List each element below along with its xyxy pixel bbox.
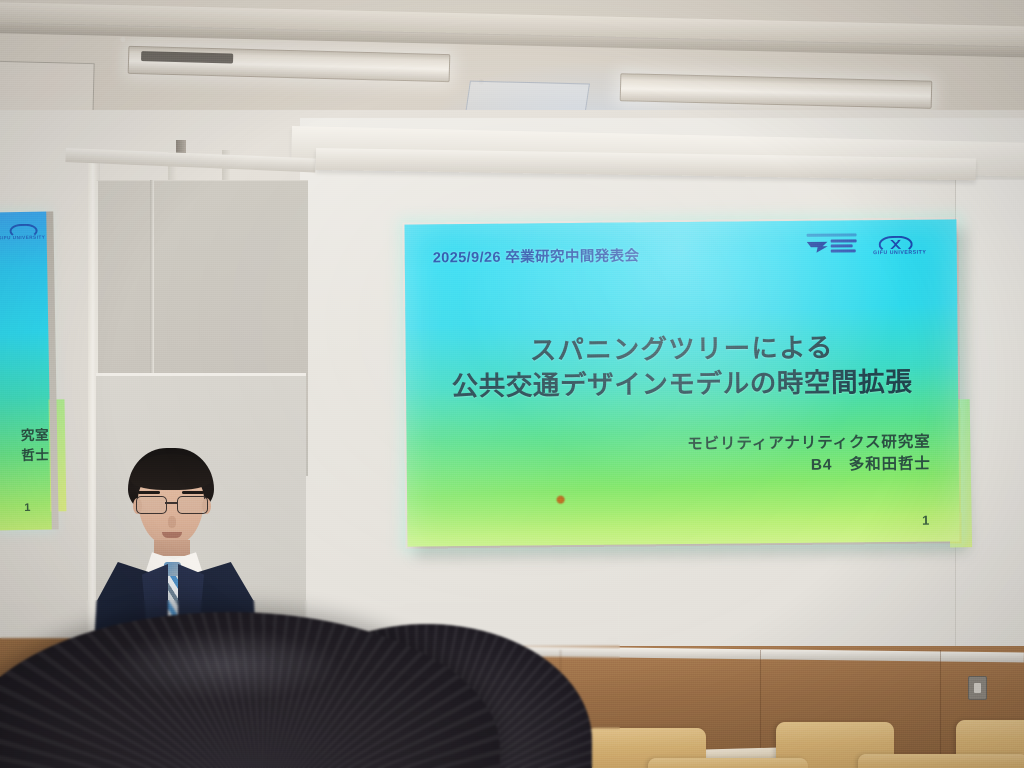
chair-seat bbox=[858, 754, 1024, 768]
slide-logo-group: GIFU UNIVERSITY bbox=[807, 236, 931, 259]
whiteboard-seam bbox=[150, 180, 154, 375]
slide-title-line-1: スパニングツリーによる bbox=[406, 329, 958, 370]
dado-seam bbox=[940, 650, 941, 768]
presenter-eyebrow-left bbox=[138, 491, 160, 494]
audience-hair-highlight bbox=[110, 630, 340, 700]
laser-pointer-dot bbox=[556, 495, 565, 504]
secondary-affiliation-fragment: 究室 bbox=[21, 426, 50, 447]
secondary-author-fragment: 哲士 bbox=[21, 446, 50, 467]
slide-title: スパニングツリーによる 公共交通デザインモデルの時空間拡張 bbox=[406, 329, 959, 405]
presenter-nose bbox=[168, 516, 176, 528]
secondary-logo-text: GIFU UNIVERSITY bbox=[0, 235, 48, 241]
slide-title-line-2: 公共交通デザインモデルの時空間拡張 bbox=[406, 365, 958, 406]
slide-author-name: B4 多和田哲士 bbox=[687, 454, 931, 479]
main-projection-screen: 2025/9/26 卒業研究中間発表会 GIFU UNIVERSITY スパニン… bbox=[404, 219, 959, 546]
secondary-projection-screen: GIFU UNIVERSITY 究室 哲士 1 bbox=[0, 212, 53, 531]
gifu-university-english-logo-icon: GIFU UNIVERSITY bbox=[0, 224, 44, 243]
chair-seat bbox=[648, 758, 808, 768]
gifu-university-japanese-logo-icon bbox=[807, 237, 859, 257]
wall-outlet-icon bbox=[968, 676, 987, 700]
glasses-lens-left bbox=[136, 496, 167, 514]
slide-page-number: 1 bbox=[922, 513, 929, 528]
logo-text-bars-icon bbox=[831, 239, 859, 255]
presentation-slide: 2025/9/26 卒業研究中間発表会 GIFU UNIVERSITY スパニン… bbox=[404, 219, 959, 546]
presenter-glasses-icon bbox=[134, 496, 208, 513]
secondary-slide-author-block: 究室 哲士 bbox=[21, 426, 50, 467]
glasses-lens-right bbox=[177, 496, 208, 514]
slide-author-block: モビリティアナリティクス研究室 B4 多和田哲士 bbox=[687, 432, 931, 479]
secondary-page-number: 1 bbox=[24, 502, 30, 514]
gifu-university-english-logo-icon: GIFU UNIVERSITY bbox=[869, 236, 931, 259]
logo-secondary-text: GIFU UNIVERSITY bbox=[869, 250, 931, 257]
slide-header-text: 2025/9/26 卒業研究中間発表会 bbox=[433, 244, 640, 267]
photo-scene: GIFU UNIVERSITY 究室 哲士 1 2025/9/26 卒業研究中間… bbox=[0, 0, 1024, 768]
presenter-eyebrow-right bbox=[182, 491, 204, 494]
logo-cap-bar-icon bbox=[807, 233, 857, 236]
logo-bird-mark-icon bbox=[807, 242, 828, 253]
presenter-mouth bbox=[162, 532, 182, 538]
secondary-slide: GIFU UNIVERSITY 究室 哲士 1 bbox=[0, 212, 53, 531]
glasses-bridge bbox=[165, 502, 177, 504]
slide-affiliation: モビリティアナリティクス研究室 bbox=[687, 432, 931, 457]
